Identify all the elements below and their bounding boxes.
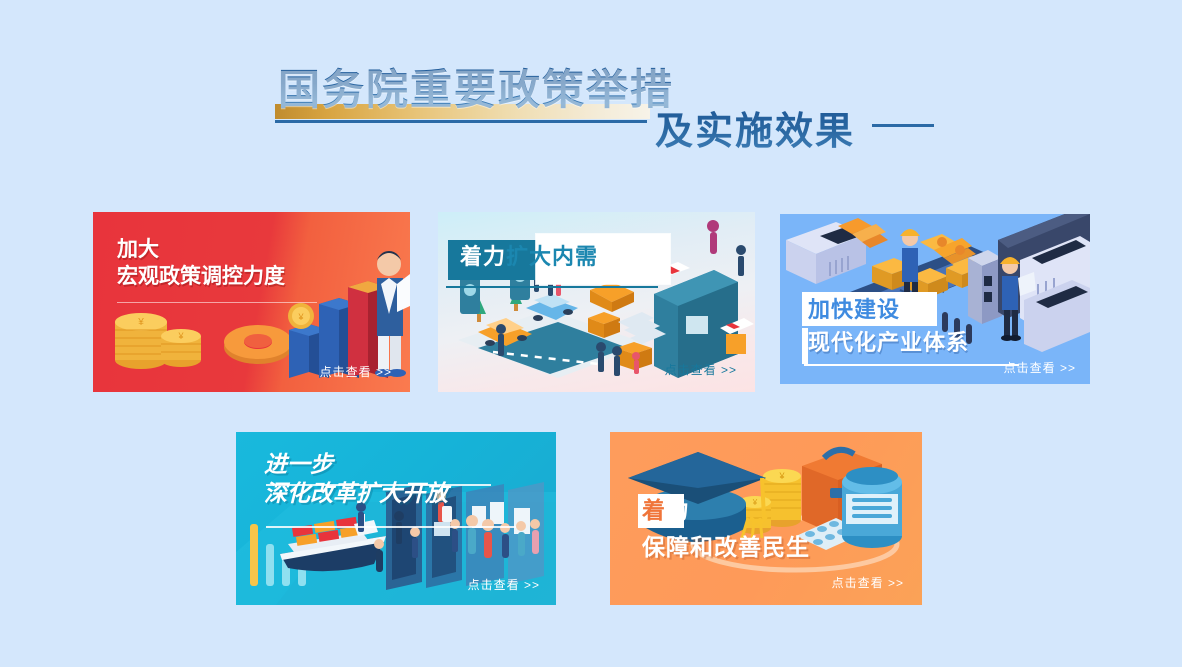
card-5-title: 着力保障和改善民生: [642, 496, 810, 563]
card-5-title-char-a: 着: [642, 497, 666, 523]
page-title-line-2: 及实施效果: [655, 100, 855, 155]
policy-card-peoples-livelihood[interactable]: ¥ ¥: [610, 432, 922, 605]
policy-card-macro-policy[interactable]: ¥ ¥: [93, 212, 410, 392]
card-5-title-line-2: 保障和改善民生: [642, 533, 810, 562]
page-header: 国务院重要政策举措 及实施效果: [0, 0, 1182, 180]
svg-text:¥: ¥: [778, 471, 785, 481]
card-5-cta-link[interactable]: 点击查看 >>: [832, 574, 904, 591]
card-3-title-rule: [804, 364, 1019, 366]
card-1-cta-link[interactable]: 点击查看 >>: [320, 363, 392, 380]
card-3-title-line-1: 加快建设: [808, 296, 969, 324]
policy-card-modern-industry[interactable]: 加快建设现代化产业体系 点击查看 >>: [780, 214, 1090, 384]
card-3-cta-link[interactable]: 点击查看 >>: [1004, 359, 1076, 376]
card-2-title: 着力扩大内需: [460, 243, 598, 271]
card-4-cta-link[interactable]: 点击查看 >>: [468, 576, 540, 593]
title-rule-left: [275, 120, 647, 123]
card-3-title-line-2: 现代化产业体系: [808, 329, 969, 357]
svg-text:¥: ¥: [137, 317, 144, 328]
policy-card-expand-demand[interactable]: 着力扩大内需 点击查看 >>: [438, 212, 755, 392]
card-5-title-char-b: 力: [666, 497, 690, 523]
card-4-title-line-1: 进一步: [264, 451, 333, 477]
card-1-title-underline: [117, 302, 317, 303]
card-4-title-rule-1: [266, 484, 491, 486]
card-1-title: 加大 宏观政策调控力度: [117, 237, 285, 291]
card-4-title: 进一步深化改革扩大开放: [264, 450, 448, 509]
card-2-title-seg1: 着力: [460, 244, 506, 269]
svg-text:¥: ¥: [177, 331, 184, 341]
card-5-title-line-1: 着力: [642, 496, 810, 525]
card-2-cta-link[interactable]: 点击查看 >>: [665, 361, 737, 378]
policy-card-reform-opening[interactable]: 进一步深化改革扩大开放 点击查看 >>: [236, 432, 556, 605]
card-2-title-rule: [446, 286, 658, 288]
card-4-title-rule-2: [266, 526, 516, 528]
card-2-title-seg2: 扩大内需: [506, 244, 598, 269]
page-title-line-1: 国务院重要政策举措: [278, 56, 674, 117]
svg-text:¥: ¥: [297, 312, 304, 322]
title-rule-right: [872, 124, 934, 127]
card-3-title: 加快建设现代化产业体系: [808, 296, 969, 357]
